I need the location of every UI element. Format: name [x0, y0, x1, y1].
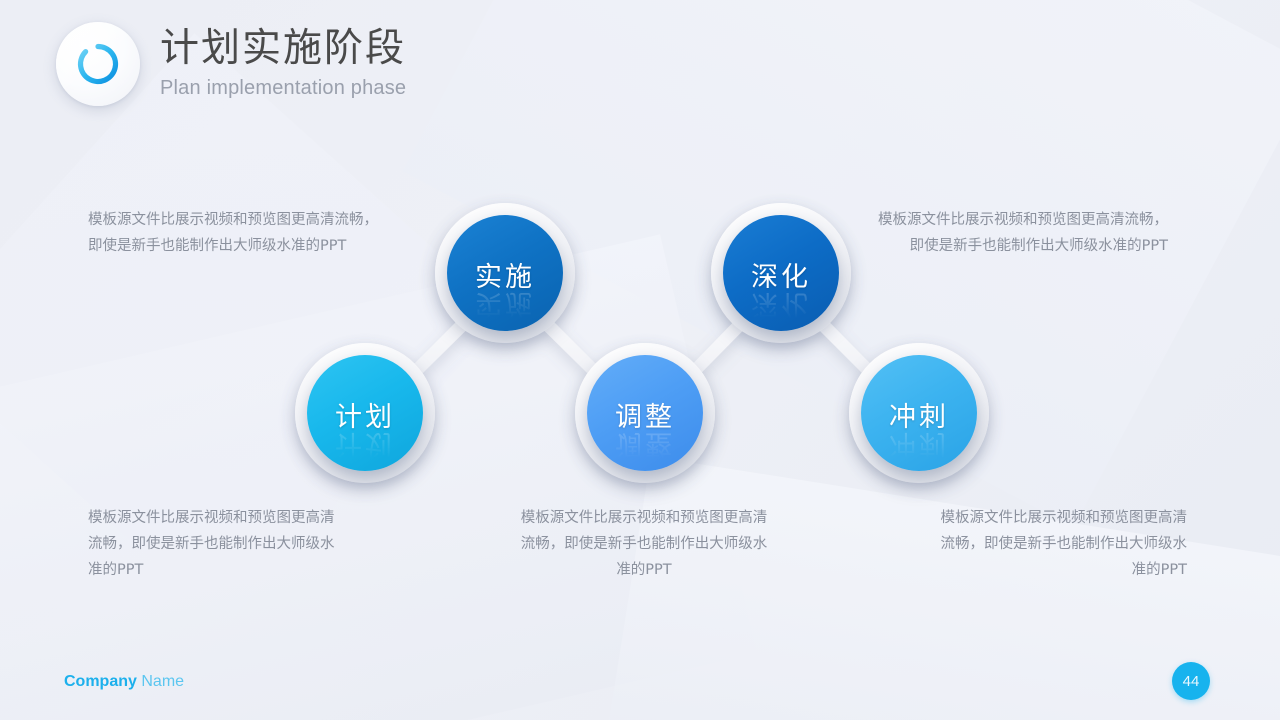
footer-company: Company Name — [64, 673, 184, 691]
slide-canvas: 计划实施阶段 Plan implementation phase — [0, 0, 1280, 720]
company-bold-text: Company — [64, 673, 137, 690]
node-adjust[interactable]: 调整 调整 — [575, 343, 715, 483]
company-light-text: Name — [141, 673, 184, 690]
node-label: 计划 — [295, 395, 435, 434]
description-bottom-right: 模板源文件比展示视频和预览图更高清流畅，即使是新手也能制作出大师级水准的PPT — [935, 505, 1187, 583]
node-implement[interactable]: 实施 实施 — [435, 203, 575, 343]
node-plan[interactable]: 计划 计划 — [295, 343, 435, 483]
process-diagram: 计划 计划 实施 实施 调整 调整 深化 深化 冲刺 — [0, 0, 1280, 720]
node-label: 深化 — [711, 255, 851, 294]
ring-logo-icon — [75, 41, 121, 87]
description-bottom-center: 模板源文件比展示视频和预览图更高清流畅，即使是新手也能制作出大师级水准的PPT — [518, 505, 770, 583]
node-label: 实施 — [435, 255, 575, 294]
node-label: 调整 — [575, 395, 715, 434]
node-sprint[interactable]: 冲刺 冲刺 — [849, 343, 989, 483]
node-label: 冲刺 — [849, 395, 989, 434]
page-number-badge: 44 — [1172, 662, 1210, 700]
node-deepen[interactable]: 深化 深化 — [711, 203, 851, 343]
description-top-left: 模板源文件比展示视频和预览图更高清流畅，即使是新手也能制作出大师级水准的PPT — [88, 207, 390, 259]
description-top-right: 模板源文件比展示视频和预览图更高清流畅，即使是新手也能制作出大师级水准的PPT — [866, 207, 1168, 259]
description-bottom-left: 模板源文件比展示视频和预览图更高清流畅，即使是新手也能制作出大师级水准的PPT — [88, 505, 340, 583]
